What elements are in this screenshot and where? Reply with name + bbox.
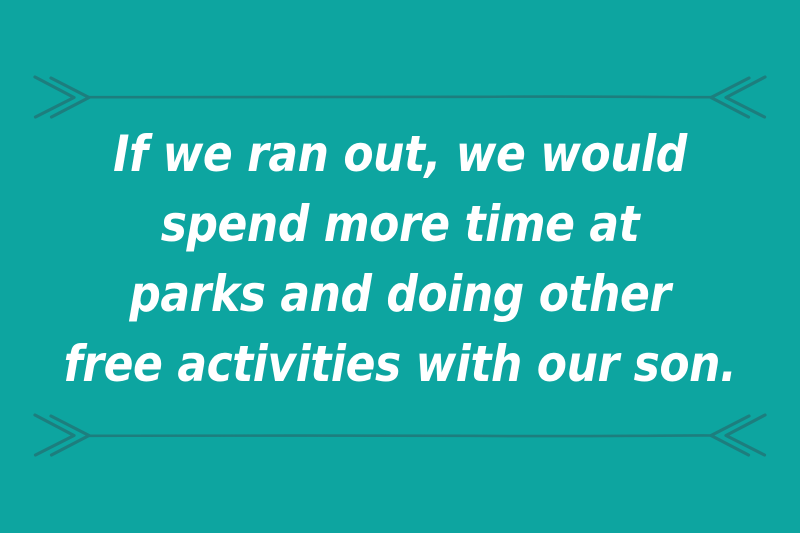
- double-chevron-left-icon: [726, 415, 765, 455]
- quote-card: If we ran out, we would spend more time …: [0, 0, 800, 533]
- quote-line-4: free activities with our son.: [48, 329, 752, 399]
- top-arrow-rule: [0, 67, 800, 127]
- quote-text-block: If we ran out, we would spend more time …: [0, 119, 800, 399]
- double-chevron-right-icon: [35, 77, 74, 117]
- quote-line-1: If we ran out, we would: [48, 119, 752, 189]
- bottom-arrow-rule-graphic: [0, 405, 800, 465]
- double-chevron-right-icon: [35, 415, 74, 455]
- top-arrow-rule-graphic: [0, 67, 800, 127]
- double-chevron-left-icon: [726, 77, 765, 117]
- quote-line-2: spend more time at: [48, 189, 752, 259]
- quote-line-3: parks and doing other: [48, 259, 752, 329]
- bottom-arrow-rule: [0, 405, 800, 465]
